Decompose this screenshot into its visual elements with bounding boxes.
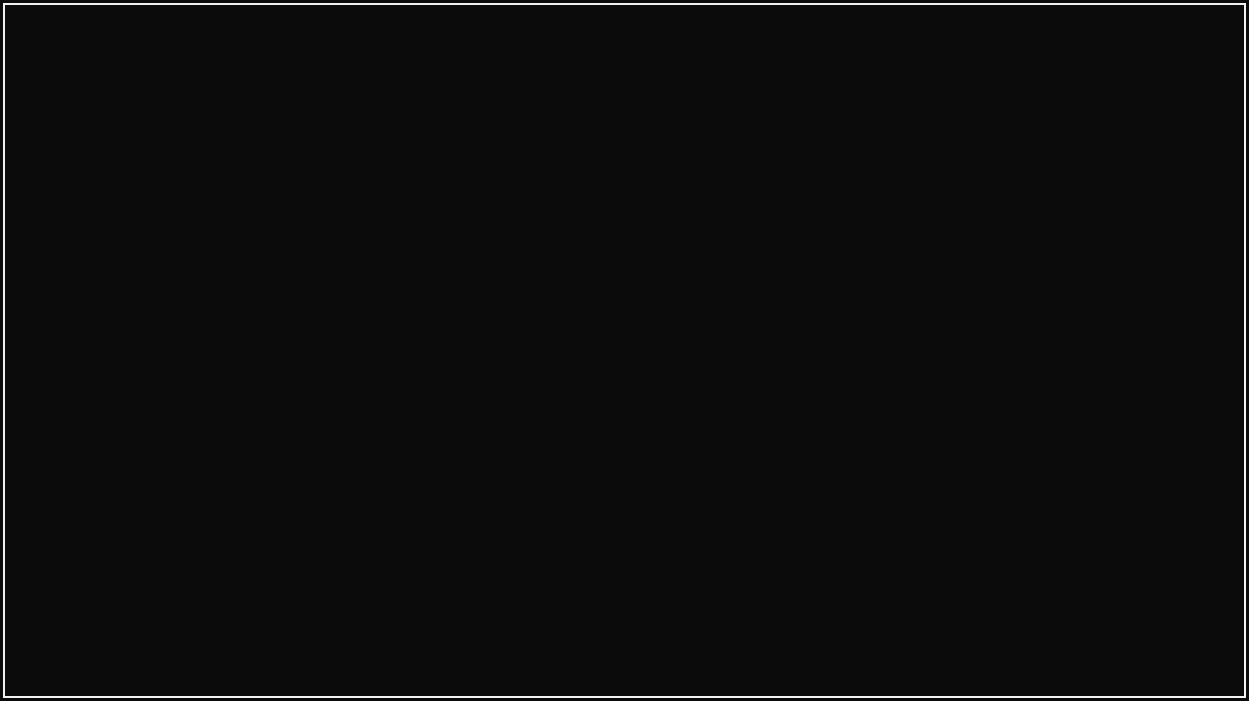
watermark-tile: zx-cc.net <box>35 296 97 342</box>
bracket-cap-top-2 <box>867 287 876 290</box>
list-item: 一人多号 <box>892 546 1012 579</box>
bracket-line-1 <box>873 155 876 247</box>
issue-items-2: 什么都会买 客单价没区分 需求没区分 <box>876 284 1045 383</box>
bracket-icon-2 <box>854 281 876 385</box>
list-item: 货比错误 <box>892 416 1020 449</box>
bracket-stub-2 <box>857 332 873 335</box>
watermark-tile: zx-cc.net <box>361 20 423 66</box>
slide-canvas: zx-cc.netzx-cc.netzx-cc.netzx-cc.netzx-c… <box>0 0 1249 701</box>
watermark-tile: zx-cc.net <box>105 20 167 66</box>
issue-title-4: 帐号裂变 <box>606 568 854 622</box>
bracket-icon-4 <box>854 543 876 647</box>
issue-title-1: 渠道太老 <box>606 174 854 228</box>
list-item: 多店一起用 <box>892 185 1071 218</box>
bracket-line-3 <box>873 419 876 511</box>
bracket-stub-3 <box>857 464 873 467</box>
vertical-dashed-divider <box>578 96 583 618</box>
watermark-tile: zx-cc.net <box>35 480 97 526</box>
watermark-tile: zx-cc.net <box>6 572 39 618</box>
bracket-line-4 <box>873 549 876 641</box>
headline-text: 淘宝补单99%被忽略的坑 <box>867 39 1175 79</box>
bracket-icon-1 <box>854 149 876 253</box>
watermark-tile: zx-cc.net <box>35 112 97 158</box>
list-item: 同wifi环境 <box>892 612 1012 645</box>
bracket-icon-3 <box>854 413 876 517</box>
bracket-cap-top-4 <box>867 549 876 552</box>
watermark-tile: zx-cc.net <box>1187 112 1243 158</box>
bracket-stub-1 <box>857 200 873 203</box>
issue-row-3: 标签轨迹 货比错误 动作不统一 价格区分 <box>606 406 1166 524</box>
watermark-tile: zx-cc.net <box>745 20 807 66</box>
watermark-tile: zx-cc.net <box>163 664 225 695</box>
watermark-tile: zx-cc.net <box>105 572 167 618</box>
issue-row-1: 渠道太老 常年不更换 多店一起用 老鱼塘，没拉新 <box>606 142 1166 260</box>
watermark-tile: zx-cc.net <box>6 388 39 434</box>
watermark-tile: zx-cc.net <box>6 204 39 250</box>
list-item: 什么都会买 <box>892 284 1045 317</box>
watermark-tile: zx-cc.net <box>291 664 353 695</box>
issue-items-3: 货比错误 动作不统一 价格区分 <box>876 416 1020 515</box>
cycle-label-line2: 降权/清洗 <box>106 324 506 370</box>
watermark-tile: zx-cc.net <box>617 20 679 66</box>
watermark-tile: zx-cc.net <box>361 572 423 618</box>
issue-items-1: 常年不更换 多店一起用 老鱼塘，没拉新 <box>876 152 1071 251</box>
caption-text: 为什么因为很多资源渠道 <box>460 640 801 684</box>
issue-title-2: 标签太乱 <box>606 306 854 360</box>
cycle-label-line1: 淘宝补单 <box>106 278 506 324</box>
watermark-tile: zx-cc.net <box>489 572 551 618</box>
bracket-line-2 <box>873 287 876 379</box>
watermark-tile: zx-cc.net <box>233 20 295 66</box>
watermark-tile: zx-cc.net <box>233 572 295 618</box>
bracket-cap-bottom-4 <box>867 638 876 641</box>
caption-bar: 为什么因为很多资源渠道 <box>413 635 847 689</box>
list-item: 常年不更换 <box>892 152 1071 185</box>
list-item: 需求没区分 <box>892 350 1045 383</box>
list-item: 关联性强 <box>892 579 1012 612</box>
bracket-cap-top-3 <box>867 419 876 422</box>
bracket-cap-bottom-1 <box>867 244 876 247</box>
headline-banner: 淘宝补单99%被忽略的坑 <box>855 32 1243 85</box>
issue-title-3: 标签轨迹 <box>606 438 854 492</box>
bracket-cap-top-1 <box>867 155 876 158</box>
list-item: 老鱼塘，没拉新 <box>892 218 1071 251</box>
watermark-tile: zx-cc.net <box>35 664 97 695</box>
bracket-cap-bottom-2 <box>867 376 876 379</box>
list-item: 动作不统一 <box>892 449 1020 482</box>
list-item: 价格区分 <box>892 482 1020 515</box>
bracket-cap-bottom-3 <box>867 508 876 511</box>
bracket-stub-4 <box>857 594 873 597</box>
watermark-tile: zx-cc.net <box>6 20 39 66</box>
watermark-tile: zx-cc.net <box>489 20 551 66</box>
cycle-diagram-label: 淘宝补单 降权/清洗 <box>106 278 506 371</box>
list-item: 客单价没区分 <box>892 317 1045 350</box>
cycle-diagram: 淘宝补单 降权/清洗 <box>106 146 506 546</box>
issue-row-2: 标签太乱 什么都会买 客单价没区分 需求没区分 <box>606 274 1166 392</box>
slide-content: zx-cc.netzx-cc.netzx-cc.netzx-cc.netzx-c… <box>6 6 1243 695</box>
issue-items-4: 一人多号 关联性强 同wifi环境 <box>876 546 1012 645</box>
